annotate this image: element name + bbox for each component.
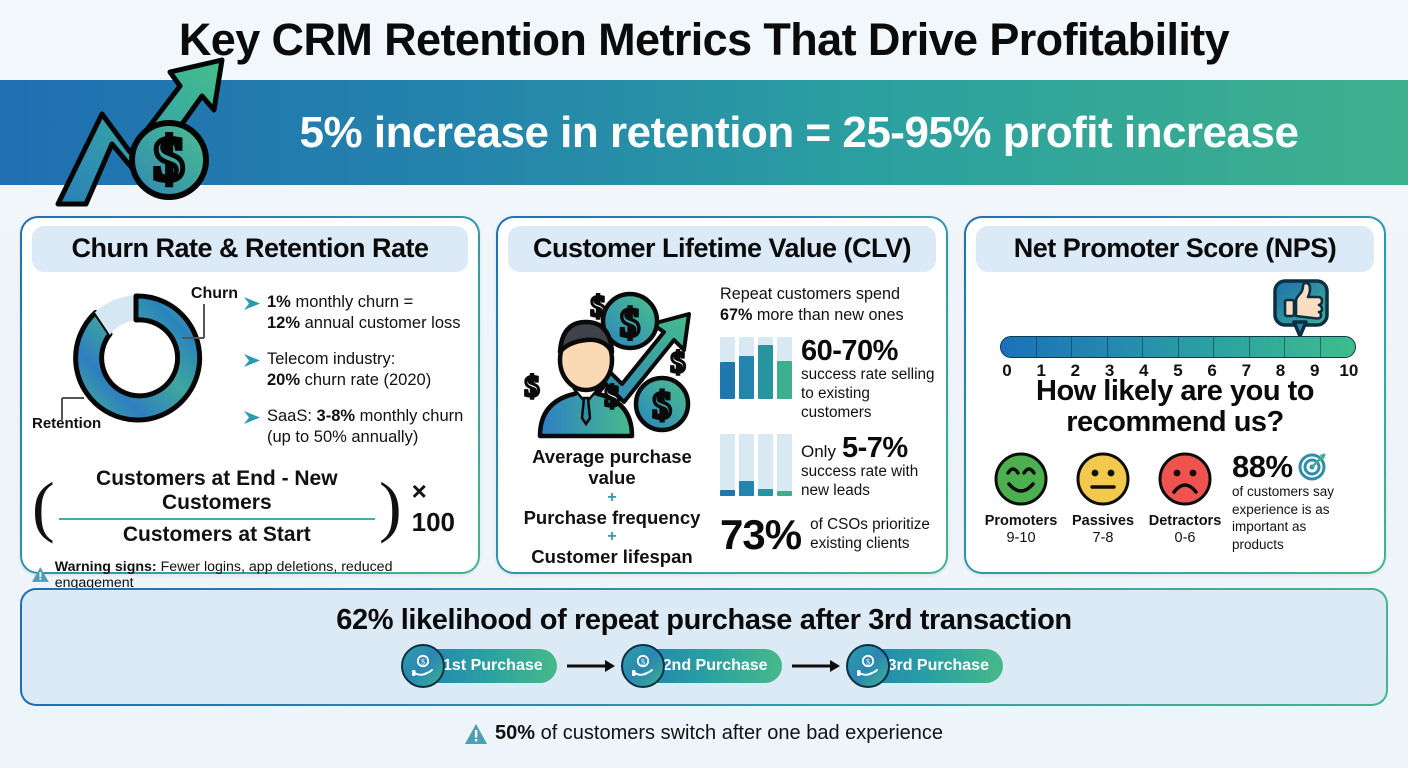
stat-88-line-1: of customers say (1232, 484, 1370, 500)
repeat-purchase-title: 62% likelihood of repeat purchase after … (22, 590, 1386, 637)
nps-label-1: 1 (1028, 361, 1054, 381)
svg-text:$: $ (605, 380, 620, 413)
warning-signs-row: Warning signs: Fewer logins, app deletio… (32, 559, 468, 591)
promoters-label: Promoters (980, 514, 1062, 530)
arrow-bullet-icon (244, 297, 260, 310)
list-item: 1% monthly churn = 12% annual customer l… (244, 292, 468, 335)
donut-label-retention: Retention (32, 415, 101, 432)
bullet-3-prefix: SaaS: (267, 407, 317, 425)
hand-coin-icon: $ (621, 644, 665, 688)
promoters-range: 9-10 (980, 530, 1062, 547)
smiley-sad-icon (1157, 451, 1213, 507)
bar-track (758, 337, 773, 399)
card-churn-retention: Churn Rate & Retention Rate (20, 216, 480, 574)
nps-segment[interactable] (1179, 337, 1215, 357)
smiley-happy-icon (993, 451, 1049, 507)
formula-multiplier: × 100 (412, 476, 468, 538)
purchase-step-1[interactable]: $ 1st Purchase (405, 649, 557, 683)
businessman-growth-dollar-icon: $ $ $ $ $ $ (514, 276, 710, 444)
nps-label-6: 6 (1199, 361, 1225, 381)
purchase-chain: $ 1st Purchase $ 2nd Purchase (22, 649, 1386, 683)
page-title: Key CRM Retention Metrics That Drive Pro… (179, 14, 1229, 66)
bullet-2-rest-1: Telecom industry: (267, 350, 395, 368)
nps-segment[interactable] (1001, 337, 1037, 357)
nps-segment-passives: Passives 7-8 (1062, 451, 1144, 547)
arrow-bullet-icon (244, 354, 260, 367)
hand-coin-icon: $ (401, 644, 445, 688)
repeat-customer-stat: Repeat customers spend 67% more than new… (720, 284, 936, 325)
churn-rate-formula: ( Customers at End - New Customers Custo… (32, 467, 468, 547)
svg-text:$: $ (866, 658, 870, 667)
svg-text:$: $ (653, 385, 672, 427)
svg-text:$: $ (620, 300, 640, 345)
nps-question-line-2: recommend us? (1066, 406, 1284, 438)
bar-fill (777, 491, 792, 496)
new-leads-value: 5-7% (842, 434, 908, 463)
bar-track (777, 434, 792, 496)
donut-label-churn: Churn (191, 285, 238, 303)
nps-scale: 0 1 2 3 4 5 6 7 8 9 10 (976, 278, 1374, 374)
nps-segment[interactable] (1108, 337, 1144, 357)
new-leads-stat: Only 5-7% success rate with new leads (720, 434, 936, 500)
svg-text:$: $ (671, 346, 686, 379)
nps-segment[interactable] (1214, 337, 1250, 357)
nps-segments-row: Promoters 9-10 Passives 7-8 (976, 451, 1374, 554)
svg-text:$: $ (641, 658, 645, 667)
footnote-row: 50% of customers switch after one bad ex… (0, 722, 1408, 745)
purchase-step-2-label: 2nd Purchase (663, 657, 768, 675)
nps-segment[interactable] (1285, 337, 1321, 357)
smiley-neutral-icon (1075, 451, 1131, 507)
bar-track (777, 337, 792, 399)
bullet-2-bold-2: 20% (267, 371, 300, 389)
stat-88-line-2: experience is as (1232, 502, 1370, 518)
nps-segment[interactable] (1037, 337, 1073, 357)
bullet-3-rest-2: (up to 50% annually) (267, 428, 418, 446)
repeat-purchase-band: 62% likelihood of repeat purchase after … (20, 588, 1388, 706)
nps-label-2: 2 (1062, 361, 1088, 381)
formula-numerator: Customers at End - New Customers (59, 467, 375, 520)
formula-right-paren: ) (379, 479, 402, 535)
purchase-step-1-label: 1st Purchase (443, 657, 543, 675)
svg-text:$: $ (525, 370, 540, 403)
arrow-right-icon (792, 658, 840, 674)
card-churn-title: Churn Rate & Retention Rate (32, 226, 468, 272)
target-bullseye-icon (1298, 451, 1328, 481)
churn-retention-donut: Churn Retention (32, 278, 244, 438)
repeat-bold: 67% (720, 306, 752, 324)
headline-banner: $ 5% increase in retention = 25-95% prof… (0, 80, 1408, 185)
new-leads-sub-2: new leads (801, 482, 918, 501)
bar-fill (777, 361, 792, 399)
nps-label-4: 4 (1131, 361, 1157, 381)
nps-label-10: 10 (1336, 361, 1362, 381)
bar-fill (739, 481, 754, 496)
cso-sub-2: existing clients (810, 535, 930, 554)
existing-customer-stat: 60-70% success rate selling to existing … (720, 337, 936, 422)
stat-88-value: 88% (1232, 451, 1293, 482)
thumbs-up-icon (1272, 278, 1330, 340)
nps-label-8: 8 (1268, 361, 1294, 381)
svg-text:$: $ (421, 658, 425, 667)
bullet-3-rest-1: monthly churn (355, 407, 463, 425)
bar-fill (720, 490, 735, 496)
clv-eq-line-2: Purchase frequency (508, 507, 716, 528)
bar-chart-existing (720, 337, 792, 399)
experience-importance-stat: 88% of customers say experience is as (1226, 451, 1370, 554)
bullet-1-bold-1: 1% (267, 293, 291, 311)
passives-label: Passives (1062, 514, 1144, 530)
title-bar: Key CRM Retention Metrics That Drive Pro… (0, 0, 1408, 80)
nps-label-0: 0 (994, 361, 1020, 381)
clv-eq-plus-2: + (508, 528, 716, 546)
cso-sub-1: of CSOs prioritize (810, 516, 930, 535)
card-nps-title: Net Promoter Score (NPS) (976, 226, 1374, 272)
purchase-step-3[interactable]: $ 3rd Purchase (850, 649, 1003, 683)
detractors-range: 0-6 (1144, 530, 1226, 547)
nps-scale-labels: 0 1 2 3 4 5 6 7 8 9 10 (994, 361, 1362, 381)
warning-triangle-icon (32, 567, 49, 582)
purchase-step-2[interactable]: $ 2nd Purchase (625, 649, 782, 683)
banner-headline: 5% increase in retention = 25-95% profit… (0, 108, 1408, 158)
card-customer-lifetime-value: Customer Lifetime Value (CLV) (496, 216, 948, 574)
nps-segment[interactable] (1143, 337, 1179, 357)
nps-segment[interactable] (1321, 337, 1356, 357)
existing-success-value: 60-70% (801, 337, 936, 366)
bar-track (720, 434, 735, 496)
existing-success-sub-2: to existing customers (801, 385, 936, 422)
clv-eq-line-1: Average purchase value (508, 446, 716, 489)
bar-fill (758, 345, 773, 399)
bullet-2-rest-2: churn rate (2020) (300, 371, 431, 389)
new-leads-sub-1: success rate with (801, 463, 918, 482)
bullet-1-rest-2: annual customer loss (300, 314, 461, 332)
detractors-label: Detractors (1144, 514, 1226, 530)
card-clv-title: Customer Lifetime Value (CLV) (508, 226, 936, 272)
bullet-3-bold-1: 3-8% (317, 407, 356, 425)
nps-label-7: 7 (1233, 361, 1259, 381)
formula-left-paren: ( (32, 479, 55, 535)
passives-range: 7-8 (1062, 530, 1144, 547)
bar-fill (758, 489, 773, 496)
bar-fill (739, 356, 754, 399)
warning-triangle-icon (465, 724, 487, 744)
existing-success-sub-1: success rate selling (801, 366, 936, 385)
arrow-right-icon (567, 658, 615, 674)
nps-label-5: 5 (1165, 361, 1191, 381)
clv-eq-plus-1: + (508, 489, 716, 507)
nps-segment[interactable] (1072, 337, 1108, 357)
bar-track (739, 434, 754, 496)
list-item: SaaS: 3-8% monthly churn (up to 50% annu… (244, 406, 468, 449)
nps-segment-detractors: Detractors 0-6 (1144, 451, 1226, 547)
formula-denominator: Customers at Start (59, 520, 375, 547)
metric-cards-row: Churn Rate & Retention Rate (20, 216, 1388, 574)
nps-label-3: 3 (1097, 361, 1123, 381)
nps-segment-promoters: Promoters 9-10 (980, 451, 1062, 547)
footnote-text: of customers switch after one bad experi… (535, 722, 943, 744)
stat-88-line-4: products (1232, 537, 1370, 553)
card-net-promoter-score: Net Promoter Score (NPS) (964, 216, 1386, 574)
repeat-line-2: more than new ones (752, 306, 903, 324)
arrow-bullet-icon (244, 411, 260, 424)
new-leads-prefix: Only (801, 442, 836, 462)
bullet-1-bold-2: 12% (267, 314, 300, 332)
bar-chart-new-leads (720, 434, 792, 496)
bar-track (758, 434, 773, 496)
purchase-step-3-label: 3rd Purchase (888, 657, 989, 675)
cso-priority-stat: 73% of CSOs prioritize existing clients (720, 511, 936, 559)
footnote-bold: 50% (495, 722, 535, 744)
warning-label: Warning signs: (55, 559, 157, 575)
nps-question: How likely are you to recommend us? (976, 376, 1374, 439)
stat-88-line-3: important as (1232, 519, 1370, 535)
bar-track (720, 337, 735, 399)
list-item: Telecom industry: 20% churn rate (2020) (244, 349, 468, 392)
cso-value: 73% (720, 511, 801, 559)
bullet-1-rest-1: monthly churn = (291, 293, 413, 311)
churn-bullet-list: 1% monthly churn = 12% annual customer l… (244, 278, 468, 463)
repeat-line-1: Repeat customers spend (720, 285, 900, 303)
nps-gradient-bar[interactable] (1000, 336, 1356, 358)
nps-segment[interactable] (1250, 337, 1286, 357)
svg-text:$: $ (591, 290, 606, 323)
hand-coin-icon: $ (846, 644, 890, 688)
bar-track (739, 337, 754, 399)
clv-equation: Average purchase value + Purchase freque… (508, 446, 716, 567)
bar-fill (720, 362, 735, 399)
nps-label-9: 9 (1302, 361, 1328, 381)
clv-eq-line-3: Customer lifespan (508, 546, 716, 567)
